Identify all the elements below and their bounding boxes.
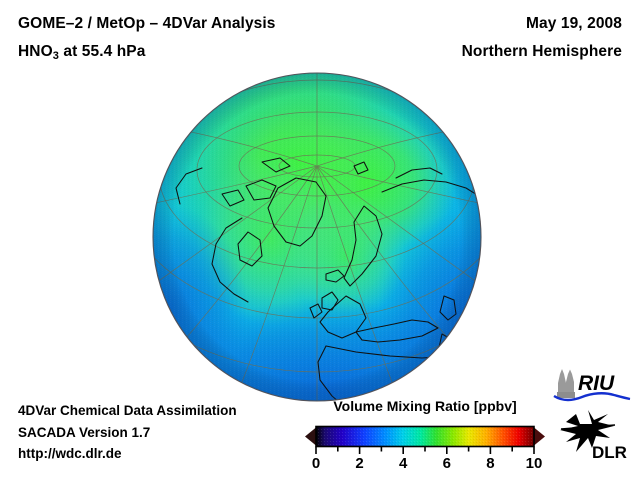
orthographic-projection (150, 70, 484, 404)
colorbar-title: Volume Mixing Ratio [ppbv] (300, 398, 550, 414)
colorbar-scale: 0246810 (300, 417, 550, 469)
credits-block: 4DVar Chemical Data Assimilation SACADA … (18, 400, 237, 465)
colorbar-tick-label: 10 (526, 455, 543, 469)
species-subtitle: HNO3 at 55.4 hPa (18, 43, 145, 61)
colorbar-cap-low (305, 428, 316, 446)
credit-line-2: SACADA Version 1.7 (18, 422, 237, 444)
colorbar-ticks (316, 447, 534, 455)
colorbar-tick-label: 4 (399, 455, 408, 469)
colorbar-tick-labels: 0246810 (312, 455, 543, 469)
colorbar-cap-high (534, 428, 545, 446)
colorbar-tick-label: 2 (355, 455, 363, 469)
figure-canvas: GOME–2 / MetOp – 4DVar Analysis HNO3 at … (0, 0, 640, 480)
colorbar-tick-label: 6 (443, 455, 451, 469)
dlr-wordmark: DLR (592, 443, 627, 462)
credit-line-1: 4DVar Chemical Data Assimilation (18, 400, 237, 422)
colorbar-tick-label: 0 (312, 455, 320, 469)
date-label: May 19, 2008 (526, 15, 622, 33)
credit-line-3[interactable]: http://wdc.dlr.de (18, 443, 237, 465)
logo-block: RIU DLR (548, 368, 634, 462)
globe-disk (150, 70, 484, 404)
pressure-level-label: at 55.4 hPa (59, 43, 146, 60)
globe-map (150, 70, 484, 404)
colorbar-dither (316, 427, 534, 447)
cologne-cathedral-icon (557, 369, 575, 398)
dlr-logo: DLR (558, 408, 628, 462)
limb-shading (150, 70, 484, 404)
riu-wordmark: RIU (578, 372, 615, 395)
colorbar-tick-label: 8 (486, 455, 494, 469)
colorbar-legend: Volume Mixing Ratio [ppbv] 0246810 (300, 398, 550, 469)
region-label: Northern Hemisphere (462, 43, 622, 61)
species-subscript: 3 (53, 50, 59, 62)
riu-logo: RIU (552, 368, 632, 402)
page-title: GOME–2 / MetOp – 4DVar Analysis (18, 15, 276, 33)
species-label: HNO (18, 43, 53, 60)
